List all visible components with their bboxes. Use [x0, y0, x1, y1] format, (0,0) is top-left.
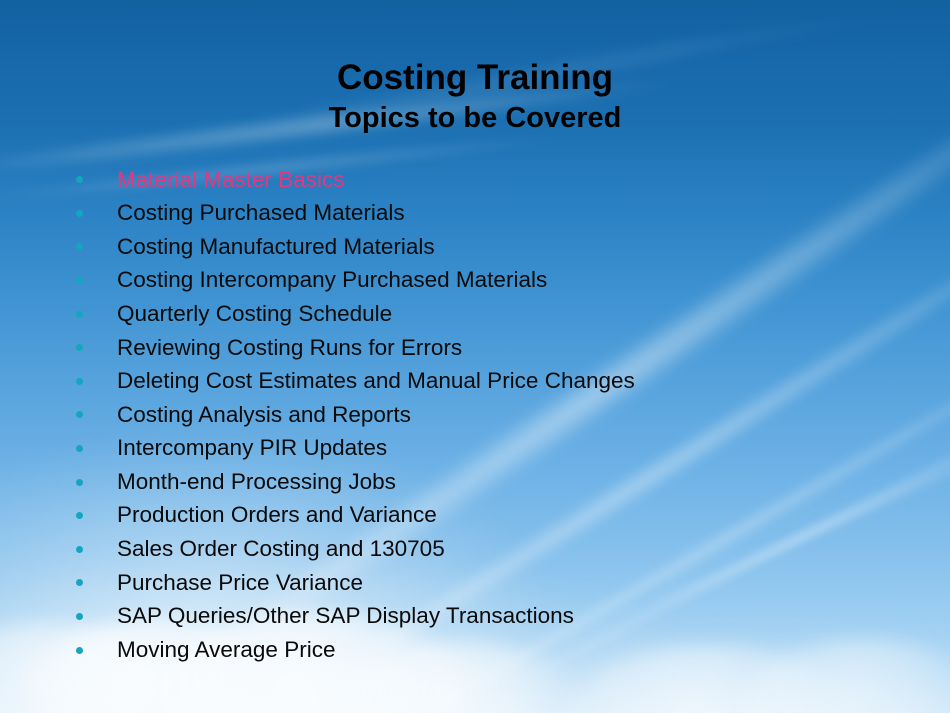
slide-subtitle: Topics to be Covered — [0, 104, 950, 133]
list-item-label: Moving Average Price — [117, 639, 335, 662]
list-item[interactable]: Month-end Processing Jobs — [76, 465, 936, 499]
bullet-dot-icon — [76, 613, 83, 620]
list-item-label: Costing Analysis and Reports — [117, 404, 411, 427]
bullet-dot-icon — [76, 445, 83, 452]
bullet-dot-icon — [76, 512, 83, 519]
list-item[interactable]: Reviewing Costing Runs for Errors — [76, 331, 936, 365]
list-item-label: Quarterly Costing Schedule — [117, 303, 392, 326]
bullet-dot-icon — [76, 579, 83, 586]
list-item[interactable]: Costing Intercompany Purchased Materials — [76, 264, 936, 298]
list-item[interactable]: Material Master Basics — [76, 163, 936, 197]
bullet-dot-icon — [76, 546, 83, 553]
list-item-label: Deleting Cost Estimates and Manual Price… — [117, 370, 635, 393]
slide-title: Costing Training — [0, 60, 950, 95]
list-item[interactable]: Costing Analysis and Reports — [76, 398, 936, 432]
bullet-dot-icon — [76, 479, 83, 486]
bullet-dot-icon — [76, 647, 83, 654]
list-item[interactable]: SAP Queries/Other SAP Display Transactio… — [76, 600, 936, 634]
list-item-label: Sales Order Costing and 130705 — [117, 538, 445, 561]
title-block: Costing Training Topics to be Covered — [0, 60, 950, 133]
list-item-label: Material Master Basics — [117, 169, 345, 192]
list-item-label: Costing Purchased Materials — [117, 202, 405, 225]
list-item-label: SAP Queries/Other SAP Display Transactio… — [117, 605, 574, 628]
bullet-dot-icon — [76, 277, 83, 284]
list-item[interactable]: Production Orders and Variance — [76, 499, 936, 533]
list-item-label: Costing Intercompany Purchased Materials — [117, 269, 547, 292]
list-item[interactable]: Intercompany PIR Updates — [76, 432, 936, 466]
list-item-label: Production Orders and Variance — [117, 504, 437, 527]
list-item[interactable]: Costing Purchased Materials — [76, 197, 936, 231]
list-item-label: Reviewing Costing Runs for Errors — [117, 337, 462, 360]
bullet-dot-icon — [76, 176, 83, 183]
list-item[interactable]: Costing Manufactured Materials — [76, 230, 936, 264]
bullet-dot-icon — [76, 210, 83, 217]
bullet-dot-icon — [76, 378, 83, 385]
list-item[interactable]: Purchase Price Variance — [76, 566, 936, 600]
list-item-label: Costing Manufactured Materials — [117, 236, 435, 259]
bullet-dot-icon — [76, 311, 83, 318]
list-item-label: Intercompany PIR Updates — [117, 437, 387, 460]
topics-bullet-list: Material Master BasicsCosting Purchased … — [76, 163, 936, 667]
bullet-dot-icon — [76, 344, 83, 351]
list-item[interactable]: Quarterly Costing Schedule — [76, 297, 936, 331]
list-item[interactable]: Moving Average Price — [76, 633, 936, 667]
list-item-label: Purchase Price Variance — [117, 572, 363, 595]
presentation-slide: Costing Training Topics to be Covered Ma… — [0, 0, 950, 713]
list-item[interactable]: Sales Order Costing and 130705 — [76, 533, 936, 567]
list-item[interactable]: Deleting Cost Estimates and Manual Price… — [76, 365, 936, 399]
list-item-label: Month-end Processing Jobs — [117, 471, 396, 494]
bullet-dot-icon — [76, 243, 83, 250]
bullet-dot-icon — [76, 411, 83, 418]
